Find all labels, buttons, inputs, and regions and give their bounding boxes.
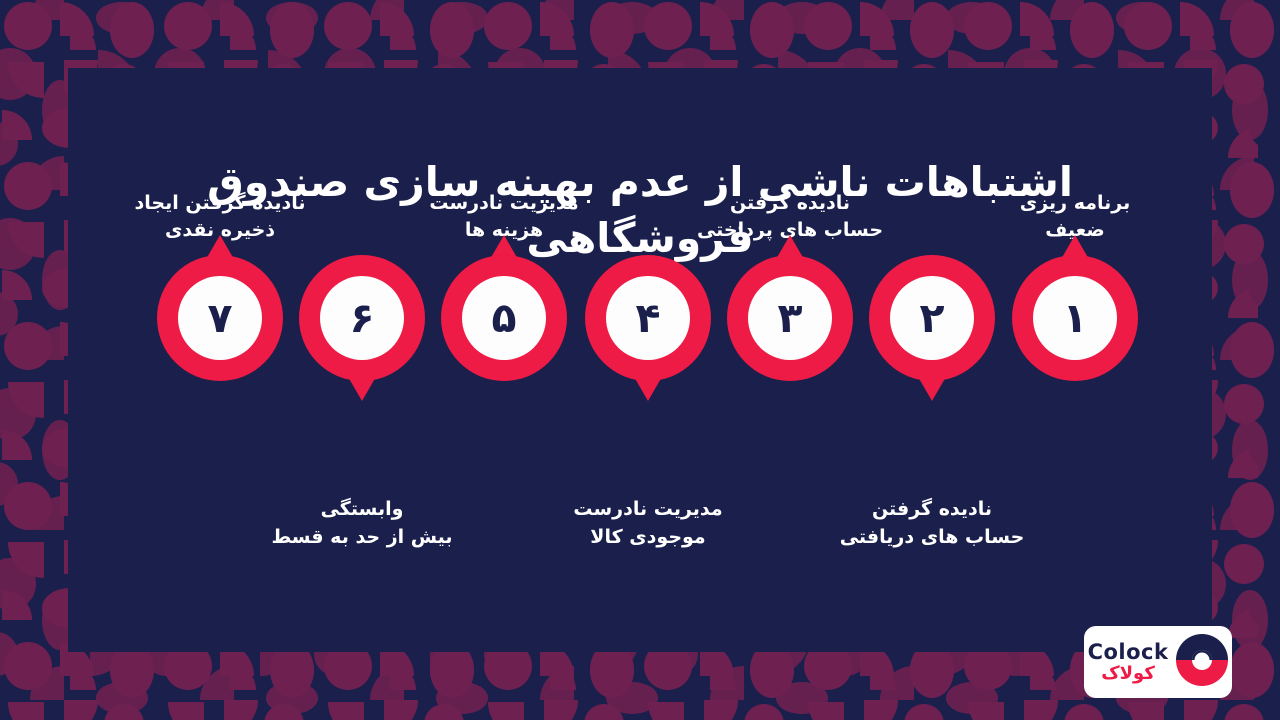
brand-name-latin: Colock: [1088, 641, 1169, 663]
marker-core-7: ۷: [178, 276, 262, 360]
step-number-6: ۶: [349, 298, 374, 339]
marker-core-2: ۲: [890, 276, 974, 360]
poster-canvas: اشتباهات ناشی از عدم بهینه سازی صندوق فر…: [0, 0, 1280, 720]
marker-core-1: ۱: [1033, 276, 1117, 360]
steps-timeline: برنامه ریزی ضعیف ۱ ۲ نادیده گرفتن: [0, 0, 1280, 720]
marker-core-6: ۶: [320, 276, 404, 360]
step-label-6: وابستگی بیش از حد به قسط: [252, 496, 472, 551]
step-label-2: نادیده گرفتن حساب های دریافتی: [822, 496, 1042, 551]
step-label-4: مدیریت نادرست موجودی کالا: [538, 496, 758, 551]
step-marker-7[interactable]: ۷: [157, 255, 283, 381]
brand-name-persian: کولاک: [1101, 665, 1155, 684]
marker-core-5: ۵: [462, 276, 546, 360]
step-number-3: ۳: [777, 298, 802, 339]
step-number-4: ۴: [635, 298, 660, 339]
step-number-7: ۷: [207, 298, 232, 339]
marker-core-3: ۳: [748, 276, 832, 360]
marker-ring-7: ۷: [157, 255, 283, 381]
brand-logo-text: Colock کولاک: [1088, 641, 1169, 684]
timeline-step-7[interactable]: نادیده گرفتن ایجاد ذخیره نقدی ۷: [120, 255, 320, 381]
step-number-2: ۲: [919, 298, 944, 339]
step-number-1: ۱: [1062, 298, 1087, 339]
step-number-5: ۵: [491, 298, 516, 339]
brand-mark-icon: [1176, 634, 1228, 690]
marker-core-4: ۴: [606, 276, 690, 360]
brand-logo[interactable]: Colock کولاک: [1084, 626, 1232, 698]
